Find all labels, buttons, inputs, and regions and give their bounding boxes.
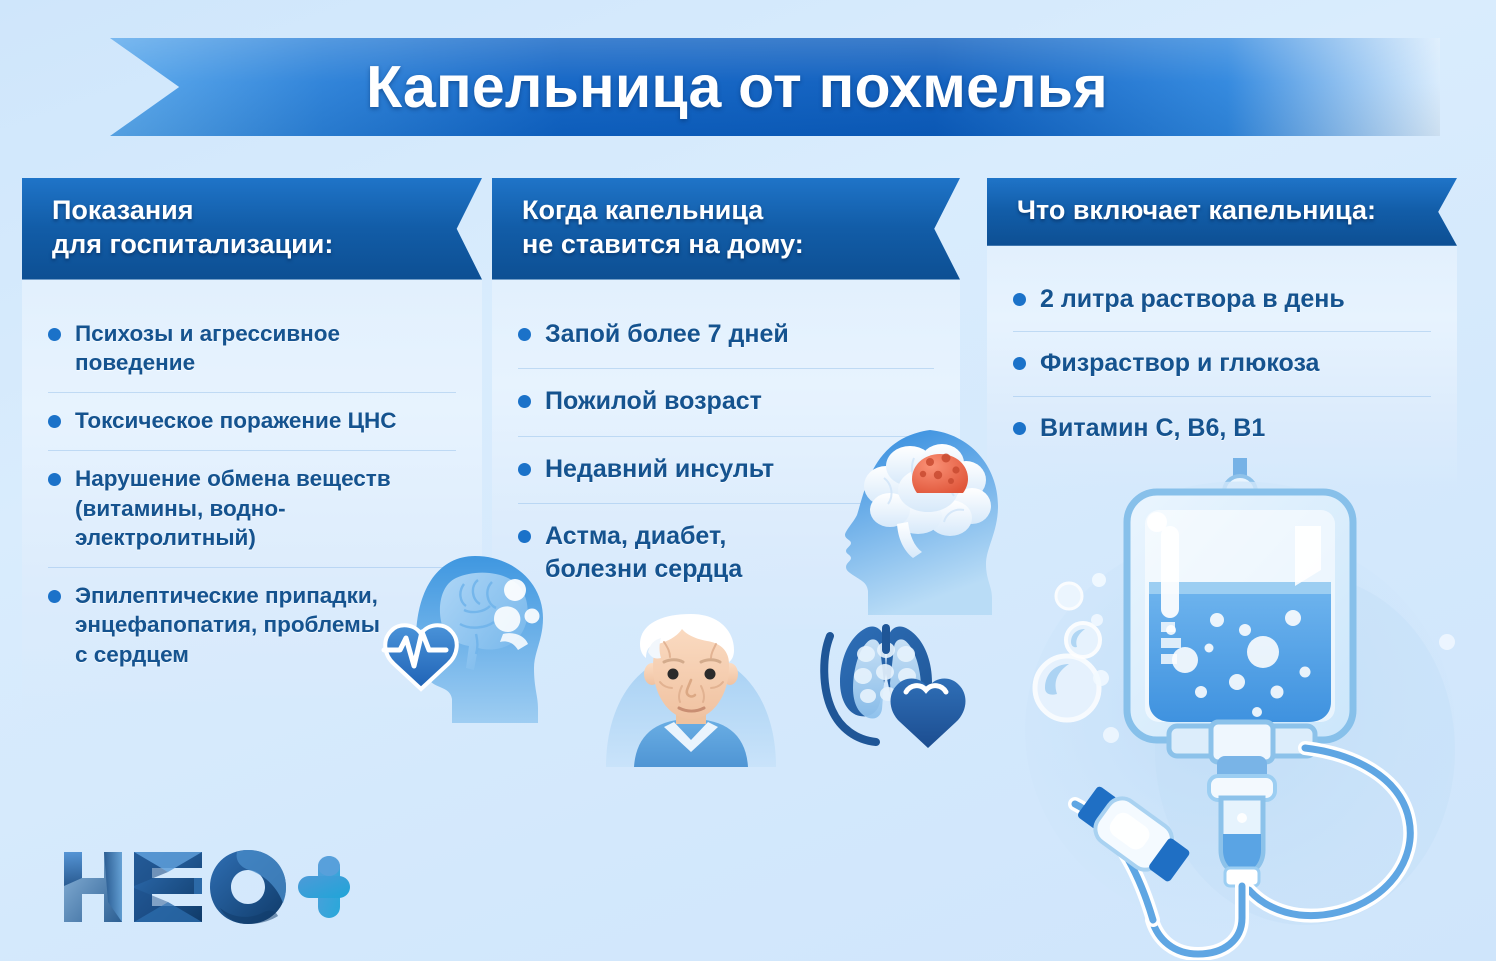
bullet-dot-icon [1013,357,1026,370]
section-header-contraindications: Когда капельница не ставится на дому: [492,178,960,280]
contraindications-list: Запой более 7 дней Пожилой возраст Недав… [518,302,934,604]
bullet-dot-icon [1013,293,1026,306]
page-title-banner: Капельница от похмелья [110,38,1440,136]
list-item: Психозы и агрессивное поведение [48,306,456,394]
list-item: Недавний инсульт [518,437,934,505]
list-item-label: Нарушение обмена веществ (витамины, водн… [75,464,456,552]
list-item-label: Эпилептические припадки, энцефапопатия, … [75,581,380,669]
list-item-label: Витамин C, B6, B1 [1040,412,1265,445]
bullet-dot-icon [518,463,531,476]
list-item-label: Токсическое поражение ЦНС [75,406,397,435]
list-item-label: Физраствор и глюкоза [1040,347,1319,380]
header-line-1: Показания [52,194,426,228]
section-contents: Что включает капельница: 2 литра раствор… [987,178,1457,486]
bullet-dot-icon [518,530,531,543]
section-header-contents: Что включает капельница: [987,178,1457,246]
section-contraindications: Когда капельница не ставится на дому: За… [492,178,960,629]
list-item-label: 2 литра раствора в день [1040,283,1345,316]
header-line-2: для госпитализации: [52,228,426,262]
list-item-label: Пожилой возраст [545,385,762,418]
list-item: Нарушение обмена веществ (витамины, водн… [48,451,456,568]
indications-list: Психозы и агрессивное поведение Токсичес… [48,306,456,684]
lungs-heart-icon [800,622,975,762]
bullet-dot-icon [48,590,61,603]
list-item: Эпилептические припадки, энцефапопатия, … [48,568,456,684]
list-item: Физраствор и глюкоза [1013,332,1431,397]
section-body-contraindications: Запой более 7 дней Пожилой возраст Недав… [492,280,960,630]
header-line-2: не ставится на дому: [522,228,904,262]
list-item: Токсическое поражение ЦНС [48,393,456,451]
page-title: Капельница от похмелья [366,53,1108,121]
contents-list: 2 литра раствора в день Физраствор и глю… [1013,268,1431,461]
bullet-dot-icon [48,415,61,428]
list-item-label: Запой более 7 дней [545,318,789,351]
section-body-indications: Психозы и агрессивное поведение Токсичес… [22,280,482,710]
list-item: Астма, диабет, болезни сердца [518,504,934,603]
bullet-dot-icon [48,328,61,341]
bullet-dot-icon [518,328,531,341]
header-line-1: Что включает капельница: [1017,194,1407,228]
iv-drip-bag-icon [1005,430,1495,960]
bullet-dot-icon [1013,422,1026,435]
section-indications: Показания для госпитализации: Психозы и … [22,178,482,710]
list-item-label: Психозы и агрессивное поведение [75,319,340,378]
neo-plus-logo [60,842,350,930]
list-item: Пожилой возраст [518,369,934,437]
bullet-dot-icon [48,473,61,486]
header-line-1: Когда капельница [522,194,904,228]
section-header-indications: Показания для госпитализации: [22,178,482,280]
list-item: Витамин C, B6, B1 [1013,397,1431,461]
list-item: 2 литра раствора в день [1013,268,1431,333]
list-item-label: Астма, диабет, болезни сердца [545,520,742,585]
bullet-dot-icon [518,395,531,408]
section-body-contents: 2 литра раствора в день Физраствор и глю… [987,246,1457,487]
list-item-label: Недавний инсульт [545,453,774,486]
list-item: Запой более 7 дней [518,302,934,370]
